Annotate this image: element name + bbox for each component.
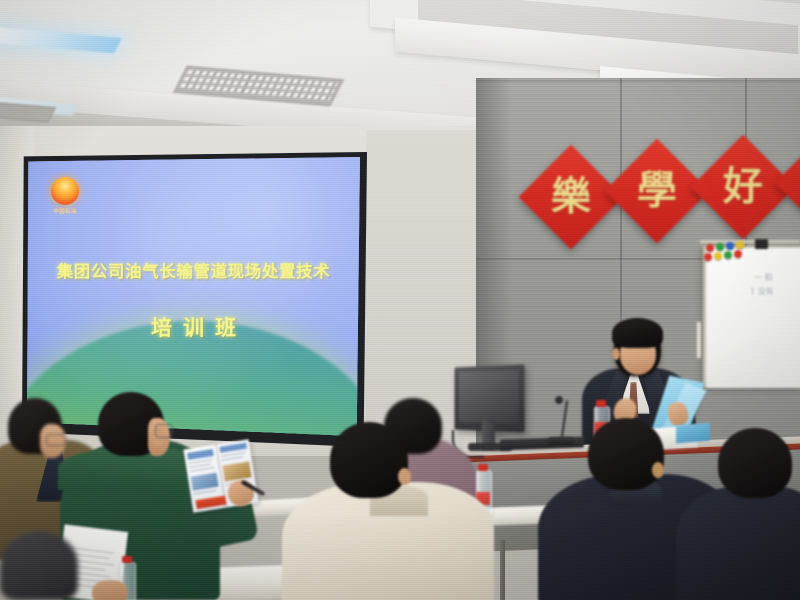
wall-banner-3-char: 好 bbox=[706, 150, 780, 224]
eyeglasses-icon bbox=[46, 434, 66, 446]
magnet-icon bbox=[724, 251, 732, 259]
brochure-accent-bar bbox=[195, 496, 226, 510]
petrochina-sun-icon bbox=[51, 177, 79, 205]
magnet-icon bbox=[734, 250, 742, 258]
magnet-icon bbox=[714, 252, 722, 260]
bottle-cap-icon bbox=[596, 400, 606, 407]
brochure-image bbox=[222, 461, 251, 481]
projection-screen: 中国石油 集团公司油气长输管道现场处置技术 培训班 bbox=[27, 157, 360, 439]
conference-room-photo: 中国石油 集团公司油气长输管道现场处置技术 培训班 樂 學 好 學 一 和 1 … bbox=[0, 0, 800, 600]
brochure-text-line bbox=[190, 467, 215, 472]
magnet-icon bbox=[736, 241, 744, 249]
whiteboard-text-line-2: 1 没有 bbox=[750, 286, 774, 297]
brochure-image bbox=[191, 473, 219, 491]
desk-blue-folder bbox=[676, 423, 710, 444]
attendee-dark-suit-2-torso bbox=[676, 486, 800, 600]
attendee-dark-suit-1-ear bbox=[652, 462, 664, 478]
presenter-hair bbox=[612, 318, 663, 348]
paper-text-line bbox=[70, 547, 114, 554]
monitor-back-panel bbox=[459, 370, 519, 424]
bottle-cap-icon bbox=[122, 556, 132, 563]
wall-banner-1: 樂 bbox=[519, 145, 624, 250]
slide-title: 集团公司油气长输管道现场处置技术 bbox=[27, 258, 360, 282]
microphone-head-icon bbox=[555, 396, 563, 404]
whiteboard-clip-icon bbox=[755, 239, 768, 249]
attendee-cream-jacket-ear bbox=[398, 468, 411, 485]
brochure-text-line bbox=[221, 456, 243, 461]
magnet-icon bbox=[716, 243, 724, 251]
whiteboard: 一 和 1 没有 bbox=[703, 246, 800, 388]
whiteboard-marker-icon bbox=[697, 322, 701, 358]
eyeglasses-icon bbox=[155, 424, 173, 438]
wall-banner-2: 學 bbox=[605, 139, 710, 244]
attendee-foreground-hand bbox=[92, 580, 128, 600]
petrochina-logo: 中国石油 bbox=[47, 177, 83, 215]
magnet-icon bbox=[704, 253, 712, 261]
brochure-text-line bbox=[193, 490, 216, 495]
whiteboard-rail bbox=[700, 240, 800, 244]
desk-leg bbox=[500, 540, 505, 600]
slide-subtitle: 培训班 bbox=[27, 312, 360, 342]
wall-banner-2-char: 學 bbox=[620, 154, 694, 228]
stone-seam bbox=[476, 80, 800, 82]
wall-banner-4-char: 學 bbox=[790, 146, 800, 220]
brochure-header-band bbox=[187, 449, 214, 460]
attendee-cream-jacket-head bbox=[330, 422, 408, 498]
microphone-base bbox=[548, 437, 574, 445]
whiteboard-text-line-1: 一 和 bbox=[754, 272, 773, 283]
attendee-foreground-head bbox=[0, 532, 78, 600]
wall-banner-1-char: 樂 bbox=[534, 160, 608, 234]
attendee-dark-suit-1-head bbox=[588, 418, 664, 490]
magnet-icon bbox=[726, 242, 734, 250]
logo-text: 中国石油 bbox=[47, 207, 83, 215]
magnet-icon bbox=[706, 244, 714, 252]
attendee-dark-suit-2-head bbox=[718, 428, 792, 498]
bottle-cap-icon bbox=[478, 464, 488, 471]
presenter-ear bbox=[612, 348, 620, 360]
